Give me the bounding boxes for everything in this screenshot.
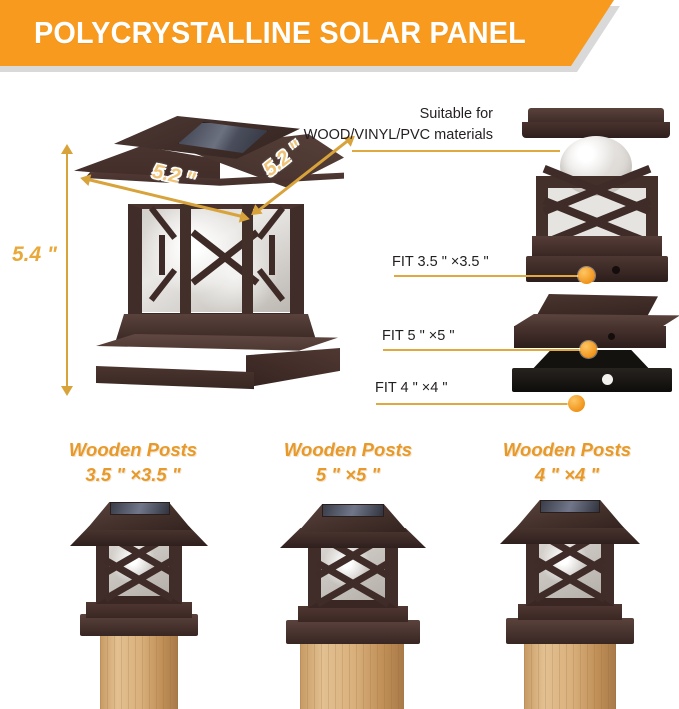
solar-panel [110, 502, 170, 515]
unit-base-step [518, 604, 622, 620]
unit-base-collar [286, 620, 420, 644]
wooden-post [524, 638, 616, 709]
exploded-base-3-5 [526, 256, 668, 282]
unit-base-collar [506, 618, 634, 644]
bottom-unit-post-3-5 [44, 498, 234, 709]
callout-marker-fit-5 [580, 341, 597, 358]
bottom-label-post-3-5: Wooden Posts 3.5 " ×3.5 " [38, 437, 228, 487]
hero-lattice-body [128, 204, 304, 322]
hero-product-image [62, 108, 362, 408]
callout-leader-fit-3-5 [394, 275, 584, 277]
callout-label-fit-5: FIT 5 " ×5 " [382, 328, 455, 344]
unit-base-step [86, 602, 192, 618]
bottom-label-post-4: Wooden Posts 4 " ×4 " [472, 437, 662, 487]
bottom-label-line2: 4 " ×4 " [472, 462, 662, 487]
callout-marker-fit-3-5 [578, 267, 595, 284]
callout-leader-fit-4 [376, 403, 574, 405]
lattice-bar [159, 235, 165, 275]
infographic-canvas: POLYCRYSTALLINE SOLAR PANEL [0, 0, 679, 709]
arrowhead-down-icon [61, 386, 73, 396]
suitable-note-line1: Suitable for [345, 104, 493, 125]
bottom-label-line1: Wooden Posts [38, 437, 228, 462]
bottom-unit-post-5 [258, 498, 448, 709]
exploded-bracket-4 [512, 368, 672, 392]
bottom-label-line1: Wooden Posts [472, 437, 662, 462]
hero-base [96, 334, 338, 396]
screw-hole [608, 333, 615, 340]
bottom-label-line2: 5 " ×5 " [253, 462, 443, 487]
bottom-label-post-5: Wooden Posts 5 " ×5 " [253, 437, 443, 487]
suitable-note-line2: WOOD/VINYL/PVC materials [301, 125, 493, 146]
bottom-label-line1: Wooden Posts [253, 437, 443, 462]
arrowhead-up-icon [61, 144, 73, 154]
header-banner: POLYCRYSTALLINE SOLAR PANEL [0, 0, 679, 78]
base-front-face [96, 366, 254, 400]
wooden-post [100, 630, 178, 709]
solar-panel [540, 500, 600, 513]
dimension-line-vertical [66, 152, 68, 388]
page-title: POLYCRYSTALLINE SOLAR PANEL [34, 9, 526, 57]
wooden-post [300, 638, 404, 709]
callout-leader-fit-5 [383, 349, 586, 351]
callout-label-fit-4: FIT 4 " ×4 " [375, 380, 448, 396]
lattice-bar [269, 235, 275, 275]
screw-hole-white [602, 374, 613, 385]
solar-panel [322, 504, 384, 517]
callout-label-fit-3-5: FIT 3.5 " ×3.5 " [392, 254, 489, 270]
base-side-face [246, 348, 340, 400]
exploded-cage-skirt [532, 236, 662, 256]
corner-post [180, 204, 191, 322]
bottom-label-line2: 3.5 " ×3.5 " [38, 462, 228, 487]
dimension-height-label: 5.4 " [12, 243, 57, 267]
suitable-note: Suitable for WOOD/VINYL/PVC materials [345, 104, 493, 146]
bottom-unit-post-4 [474, 490, 664, 709]
callout-marker-fit-4 [568, 395, 585, 412]
unit-base-step [298, 606, 408, 622]
screw-hole [612, 266, 620, 274]
